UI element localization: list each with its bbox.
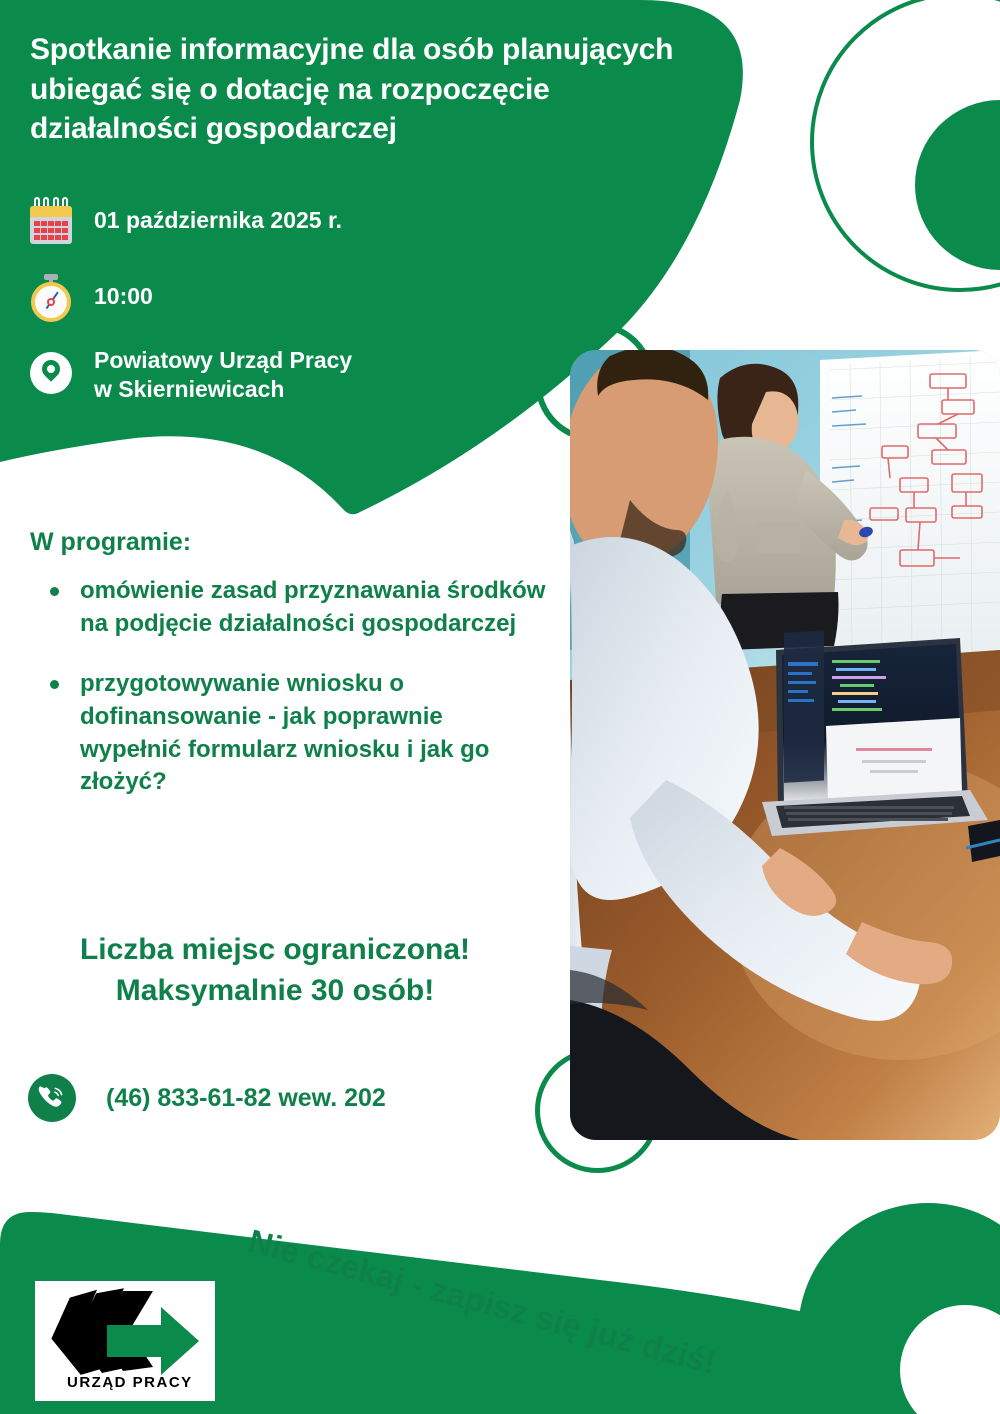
event-place-row: Powiatowy Urząd Pracy w Skierniewicach: [28, 348, 352, 405]
event-place-line1: Powiatowy Urząd Pracy: [94, 347, 352, 373]
program-item-text: omówienie zasad przyznawania środków na …: [80, 577, 545, 637]
event-time-label: 10:00: [94, 282, 153, 311]
list-item: omówienie zasad przyznawania środków na …: [50, 575, 550, 640]
page-title: Spotkanie informacyjne dla osób planując…: [30, 30, 680, 149]
seat-limit-line1: Liczba miejsc ograniczona!: [40, 930, 510, 971]
contact-phone-row[interactable]: (46) 833-61-82 wew. 202: [28, 1074, 386, 1122]
program-section: W programie: omówienie zasad przyznawani…: [30, 528, 550, 827]
event-time-row: 10:00: [28, 272, 153, 322]
seat-limit-line2: Maksymalnie 30 osób!: [40, 971, 510, 1012]
calendar-icon: [28, 196, 74, 246]
list-item: przygotowywanie wniosku o dofinansowanie…: [50, 668, 550, 799]
bullet-icon: [50, 587, 59, 596]
seat-limit-notice: Liczba miejsc ograniczona! Maksymalnie 3…: [40, 930, 510, 1012]
event-date-label: 01 października 2025 r.: [94, 206, 342, 235]
phone-number[interactable]: (46) 833-61-82 wew. 202: [106, 1084, 386, 1113]
program-heading: W programie:: [30, 528, 550, 557]
poster-root: Spotkanie informacyjne dla osób planując…: [0, 0, 1000, 1414]
event-photo: [570, 350, 1000, 1140]
stopwatch-icon: [28, 272, 74, 322]
program-list: omówienie zasad przyznawania środków na …: [30, 575, 550, 799]
event-place-label: Powiatowy Urząd Pracy w Skierniewicach: [94, 346, 352, 405]
location-pin-icon: [28, 348, 74, 398]
logo-caption: URZĄD PRACY: [67, 1374, 193, 1391]
program-item-text: przygotowywanie wniosku o dofinansowanie…: [80, 670, 489, 795]
bullet-icon: [50, 680, 59, 689]
event-date-row: 01 października 2025 r.: [28, 196, 342, 246]
event-place-line2: w Skierniewicach: [94, 376, 284, 402]
urzad-pracy-logo: URZĄD PRACY: [35, 1281, 215, 1401]
phone-icon: [28, 1074, 76, 1122]
